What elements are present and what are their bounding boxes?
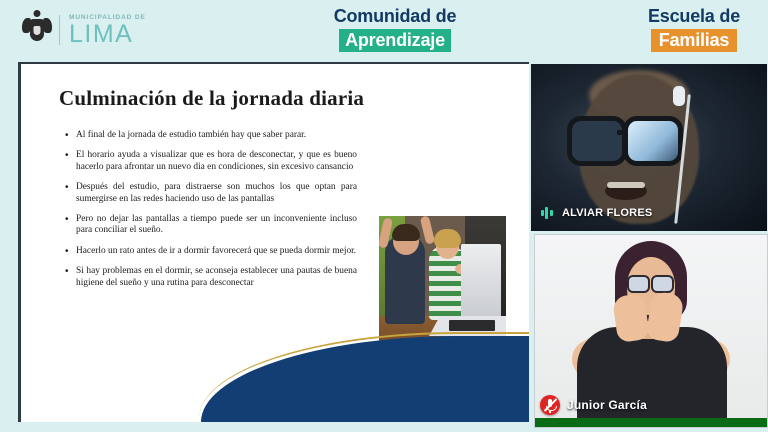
shared-slide[interactable]: Culminación de la jornada diaria • Al fi… <box>18 62 529 422</box>
bullet-marker: • <box>65 182 76 205</box>
list-item: • El horario ayuda a visualizar que es h… <box>65 150 357 173</box>
bullet-marker: • <box>65 246 76 257</box>
bullet-marker: • <box>65 214 76 237</box>
bullet-marker: • <box>65 266 76 289</box>
bullet-marker: • <box>65 130 76 141</box>
participant-name: Junior García <box>567 398 647 412</box>
page-header: MUNICIPALIDAD DE LIMA Comunidad de Apren… <box>0 0 768 58</box>
comunidad-line1: Comunidad de <box>310 6 480 27</box>
participant-nameplate: Junior García <box>540 395 647 415</box>
list-item: • Después del estudio, para distraerse s… <box>65 182 357 205</box>
escuela-line2: Familias <box>651 29 737 52</box>
audio-level-icon <box>538 206 555 220</box>
lima-coat-of-arms-icon <box>22 10 52 50</box>
comunidad-line2: Aprendizaje <box>339 29 451 52</box>
bullet-text: Hacerlo un rato antes de ir a dormir fav… <box>76 246 356 257</box>
slide-title: Culminación de la jornada diaria <box>59 86 364 111</box>
video-conference-screen: MUNICIPALIDAD DE LIMA Comunidad de Apren… <box>0 0 768 432</box>
microphone-muted-icon <box>540 395 560 415</box>
bullet-text: Después del estudio, para distraerse son… <box>76 182 357 205</box>
municipalidad-lima-logo: MUNICIPALIDAD DE LIMA <box>22 8 146 52</box>
bullet-text: Si hay problemas en el dormir, se aconse… <box>76 266 357 289</box>
escuela-familias-title: Escuela de Familias <box>620 6 768 52</box>
slide-footer-gold-accent <box>199 332 529 420</box>
comunidad-aprendizaje-title: Comunidad de Aprendizaje <box>310 6 480 52</box>
list-item: • Al final de la jornada de estudio tamb… <box>65 130 357 141</box>
slide-bullet-list: • Al final de la jornada de estudio tamb… <box>65 130 357 298</box>
bullet-text: El horario ayuda a visualizar que es hor… <box>76 150 357 173</box>
participant-name: ALVIAR FLORES <box>562 207 652 219</box>
bullet-marker: • <box>65 150 76 173</box>
escuela-line1: Escuela de <box>620 6 768 27</box>
logo-title: LIMA <box>69 22 146 47</box>
participant-nameplate: ALVIAR FLORES <box>538 206 652 220</box>
list-item: • Si hay problemas en el dormir, se acon… <box>65 266 357 289</box>
bullet-text: Pero no dejar las pantallas a tiempo pue… <box>76 214 357 237</box>
bullet-text: Al final de la jornada de estudio tambié… <box>76 130 306 141</box>
list-item: • Hacerlo un rato antes de ir a dormir f… <box>65 246 357 257</box>
logo-divider <box>59 15 60 45</box>
list-item: • Pero no dejar las pantallas a tiempo p… <box>65 214 357 237</box>
